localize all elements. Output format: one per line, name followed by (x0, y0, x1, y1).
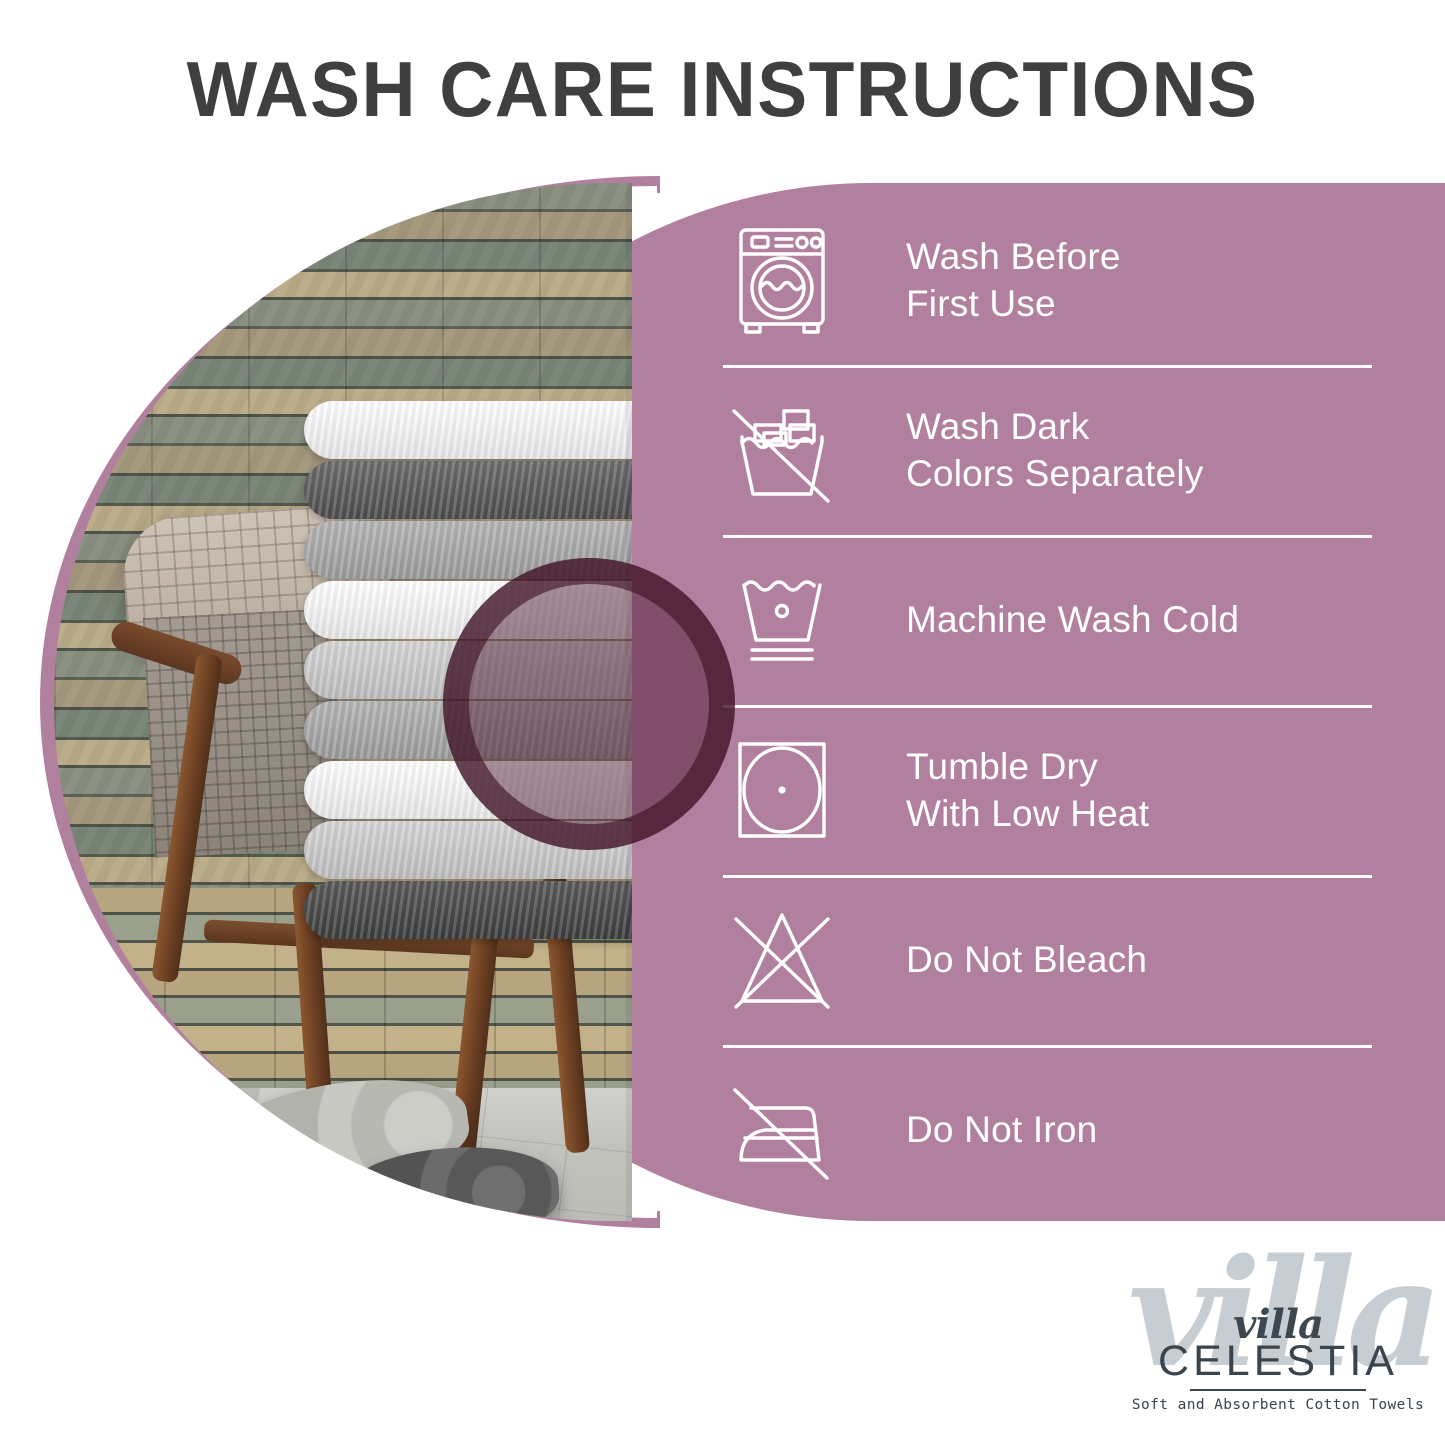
machine-wash-cold-icon (712, 570, 852, 670)
logo-brand-name: CELESTIA (1128, 1337, 1428, 1386)
do-not-iron-icon (712, 1078, 852, 1182)
decorative-circle-overlay (443, 558, 735, 850)
page-title: WASH CARE INSTRUCTIONS (29, 44, 1416, 135)
instruction-row-wash-before-first-use[interactable]: Wash Before First Use (712, 195, 1382, 365)
instruction-row-do-not-bleach[interactable]: Do Not Bleach (712, 875, 1382, 1045)
instruction-label: Tumble Dry With Low Heat (906, 743, 1149, 838)
logo-divider (1190, 1389, 1366, 1391)
instructions-list: Wash Before First Use Wash Dark Colors S… (712, 195, 1382, 1217)
brand-logo: villa villa CELESTIA Soft and Absorbent … (1128, 1245, 1428, 1430)
instruction-label: Wash Before First Use (906, 233, 1121, 328)
instruction-row-machine-wash-cold[interactable]: Machine Wash Cold (712, 535, 1382, 705)
instruction-row-do-not-iron[interactable]: Do Not Iron (712, 1045, 1382, 1215)
folded-towel (304, 401, 632, 459)
instruction-row-tumble-dry-with-low-heat[interactable]: Tumble Dry With Low Heat (712, 705, 1382, 875)
washing-machine-icon (712, 224, 852, 336)
instruction-label: Do Not Bleach (906, 936, 1147, 983)
instruction-row-wash-dark-colors-separately[interactable]: Wash Dark Colors Separately (712, 365, 1382, 535)
laundry-basket-no-icon (712, 397, 852, 503)
instruction-label: Wash Dark Colors Separately (906, 403, 1204, 498)
tumble-dry-low-icon (712, 738, 852, 842)
logo-tagline: Soft and Absorbent Cotton Towels (1128, 1397, 1428, 1413)
instruction-label: Do Not Iron (906, 1106, 1097, 1153)
do-not-bleach-icon (712, 905, 852, 1015)
instruction-label: Machine Wash Cold (906, 596, 1239, 643)
folded-towel (304, 881, 632, 939)
folded-towel (304, 461, 632, 519)
